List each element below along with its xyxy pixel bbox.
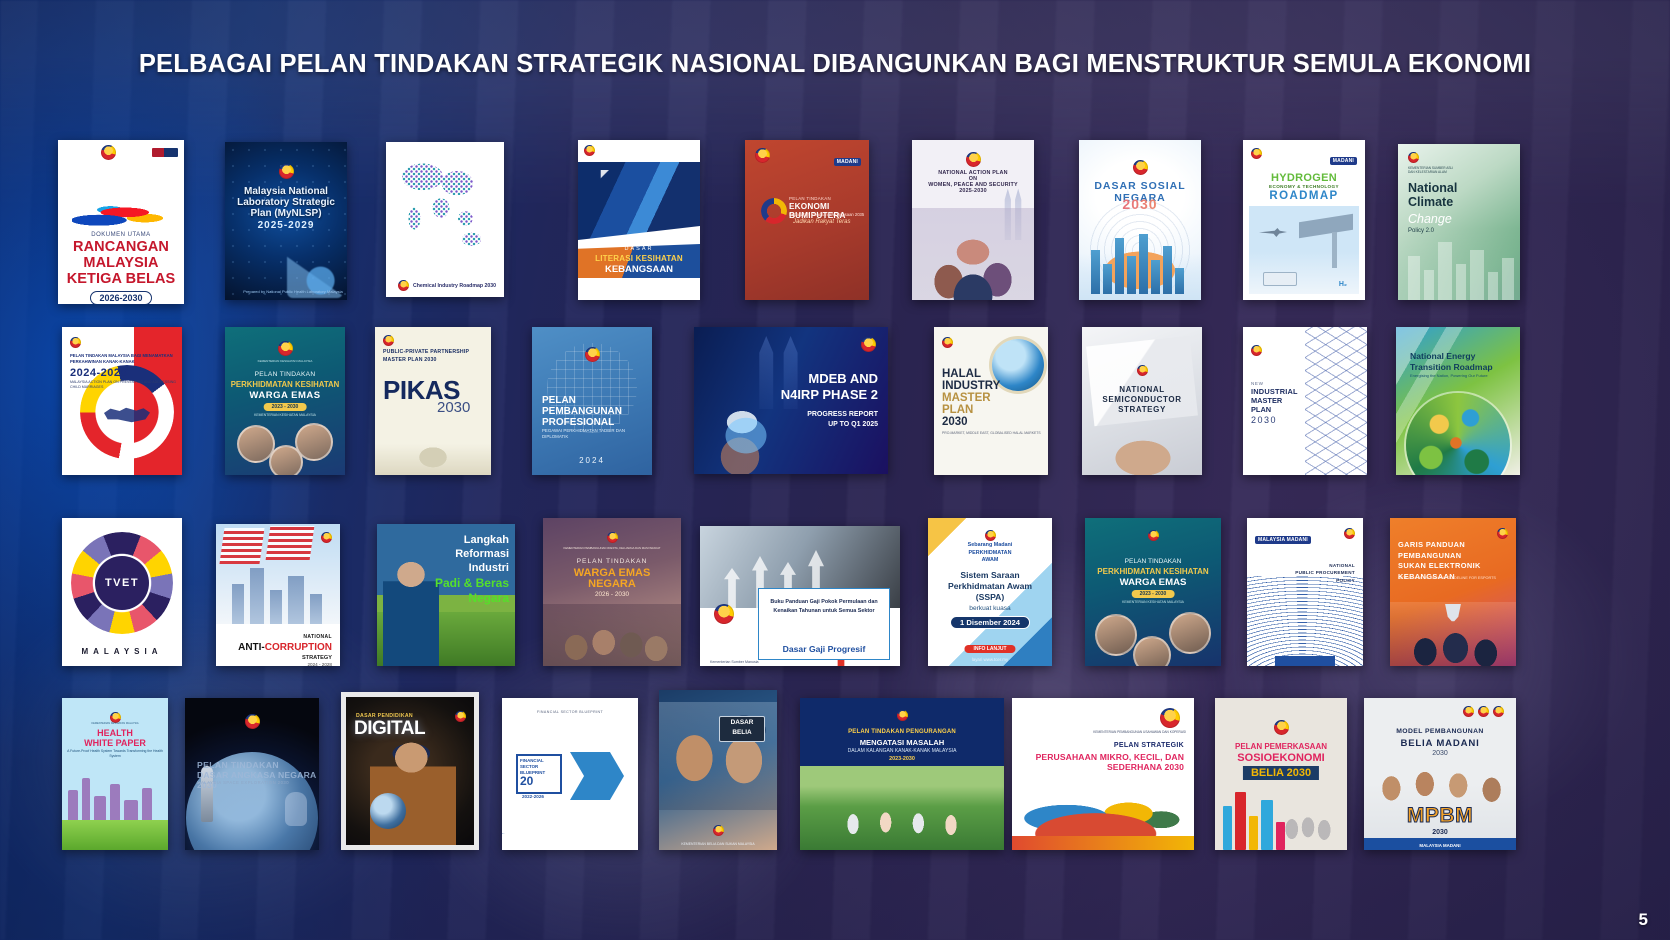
jata-negara-crest-icon [1148,530,1159,541]
ministry-wordmark: KEMENTERIAN SUMBER ASLIDAN KELESTARIAN A… [1408,166,1453,175]
cover-line2: PEMBANGUNAN [1398,551,1462,560]
cover-line3: SUKAN ELEKTRONIK [1398,561,1481,570]
cover-badge: MALAYSIA MADANI [1364,843,1516,848]
rmk-swoosh-graphic [72,202,168,228]
cover-line1: GARIS PANDUAN [1398,540,1465,549]
jata-negara-crest-icon [966,152,981,167]
cover-line2: INDUSTRY [942,381,1000,393]
cover-tvet-malaysia[interactable]: TVET MALAYSIA [62,518,182,666]
city-skyline-illustration [1079,222,1201,300]
cover-footer: KEMENTERIAN BELIA DAN SUKAN MALAYSIA [659,842,777,846]
logo-line3: AWAM [982,557,999,563]
lattice-pattern [1305,327,1367,475]
jata-negara-crest-icon [755,148,770,163]
cover-line1: INDUSTRIAL [1251,387,1298,396]
page-number: 5 [1639,910,1648,930]
cover-line2: Transition Roadmap [1410,362,1493,372]
cover-jawi-text: Jadikan Rakyat Teras [793,219,850,225]
cover-title-line3: Plan (MyNLSP) [229,208,343,219]
cover-box-line2: Kenaikan Tahunan untuk Semua Sektor [773,608,874,614]
park-grass [62,820,168,850]
jata-negara-crest-icon [101,145,116,160]
jata-negara-crest-icon [321,532,332,543]
building-shape [288,576,304,624]
jata-negara-crest-icon [383,335,394,346]
cover-line2: PEMBANGUNAN [542,406,622,417]
cover-line3: ROADMAP [1243,190,1365,202]
cover-beban-berganda-malpemakanan[interactable]: PELAN TINDAKAN PENGURANGAN MENGATASI MAS… [800,698,1004,850]
cover-title: ANTI-CORRUPTION [238,642,332,653]
cover-kicker: NEW [1251,381,1264,386]
cover-line1: DASAR [578,246,700,252]
cover-dasar-angkasa-negara[interactable]: PELAN TINDAKAN DASAR ANGKASA NEGARA 2030… [185,698,319,850]
cover-dasar-gaji-progresif[interactable]: Buku Panduan Gaji Pokok Permulaan dan Ke… [700,526,900,666]
jata-negara-crest-icon [714,604,734,624]
cover-pelan-tindakan-perkahwinan-kanak-kanak[interactable]: PELAN TINDAKAN MALAYSIA BAGI MENAMATKAN … [62,327,182,475]
cover-line1: HALAL [942,369,981,381]
hand-photo [1102,419,1184,475]
document-row-3: TVET MALAYSIA NATIONAL ANTI-CORRUPTION S… [0,508,1670,673]
cover-line4: Policy 2.0 [1408,228,1434,234]
building-shape [310,594,322,624]
cover-inner-art: DASAR PENDIDIKAN DIGITAL [346,697,474,845]
cover-tagline: Energising the Nation, Powering Our Futu… [1410,373,1488,378]
cover-ministry: KEMENTERIAN KESIHATAN MALAYSIA [1085,600,1221,604]
cover-model-pembangunan-belia-madani[interactable]: MODEL PEMBANGUNAN BELIA MADANI 2030 MPBM… [1364,698,1516,850]
cover-line1: National [1408,182,1457,196]
cover-line1: PELAN TINDAKAN [543,558,681,565]
cover-ministry: KEMENTERIAN KESIHATAN MALAYSIA [225,413,345,417]
cover-dasar-belia-malaysia[interactable]: DASAR BELIA KEMENTERIAN BELIA DAN SUKAN … [659,690,777,850]
cover-pelan-strategik-pmks-2030[interactable]: KEMENTERIAN PEMBANGUNAN USAHAWAN DAN KOP… [1012,698,1194,850]
cover-line1: PELAN TINDAKAN [197,760,279,770]
cover-national-energy-transition-roadmap[interactable]: National Energy Transition Roadmap Energ… [1396,327,1520,475]
jata-negara-crest-icon [70,337,81,348]
cover-line3: Industri [469,562,509,574]
sspa-logo: Sebarang Madani PERKHIDMATAN AWAM [968,542,1013,565]
cover-acronym: MPBM [1364,804,1516,828]
madani-badge: MADANI [834,158,861,166]
cover-ekonomi-bumiputera[interactable]: MADANI PELAN TINDAKAN EKONOMI BUMIPUTERA… [745,140,869,300]
cover-line3: KEBANGSAAN [578,264,700,275]
photo-circle [1169,612,1211,654]
family-photo [543,604,681,666]
cover-line2: PERKHIDMATAN KESIHATAN [225,380,345,389]
astronaut-icon [285,792,307,826]
cover-line2: MENGATASI MASALAH [800,738,1004,747]
fuel-canopy-shape [1299,214,1353,239]
cover-ministry: Kementerian Sumber Manusia [710,660,759,664]
jata-negara-crest-icon [1137,365,1148,376]
green-skyline-graphic [1398,228,1520,300]
cover-line1: MODEL PEMBANGUNAN [1364,728,1516,735]
cover-line4: DALAM KALANGAN KANAK-KANAK MALAYSIA [800,748,1004,754]
cover-years: 2024 - 2028 [307,662,332,666]
jata-negara-crest-icon [1497,528,1508,539]
jata-negara-crest-icon [1408,152,1419,163]
cover-line2: LITERASI KESIHATAN [578,254,700,263]
cover-years: 2026-2030 [90,291,151,304]
cover-line4: Padi & Beras [435,576,509,590]
jata-negara-crest-icon [1274,720,1289,735]
jata-negara-crest-icon [1463,706,1474,717]
cover-subtitle: MALAYSIA ACTION PLAN ON PREVENTING AND A… [70,380,182,390]
cover-years: 2023 - 2030 [1132,590,1175,598]
info-lanjut-button[interactable]: INFO LANJUT [964,645,1015,653]
cover-title-part2: CORRUPTION [265,642,332,653]
malaysia-madani-badge: MALAYSIA MADANI [1255,536,1311,544]
cover-line3: WARGA EMAS [1085,577,1221,588]
cover-pemerkasaan-sosioekonomi-belia[interactable]: PELAN PEMERKASAAN SOSIOEKONOMI BELIA 203… [1215,698,1347,850]
cover-footer: Chemical Industry Roadmap 2030 [394,280,496,291]
cover-line1: PELAN TINDAKAN [1085,558,1221,565]
cover-line1: PELAN STRATEGIK [1012,742,1184,749]
cover-line1: PELAN [542,395,576,406]
cover-heading: PUBLIC-PRIVATE PARTNERSHIP MASTER PLAN 2… [383,349,469,364]
person-photo [383,562,439,666]
cover-heading-line1: PUBLIC-PRIVATE PARTNERSHIP [383,349,469,355]
jata-negara-crest-icon [278,341,293,356]
cover-line3: PROGRESS REPORT [807,411,878,418]
cover-title-line1: RANCANGAN [58,239,184,255]
cover-prepared-by: Prepared by National Public Health Labor… [243,289,343,294]
logo-line2: PERKHIDMATAN [969,550,1012,556]
cover-title-line2: Laboratory Strategic [229,197,343,208]
cover-country: MALAYSIA [62,647,182,656]
jata-negara-crest-icon [584,145,595,156]
cover-box-line2: SECTOR [520,764,538,769]
children-photo [800,796,1004,840]
cover-highlight: Dasar Gaji Progresif [762,644,886,654]
cover-line2: Perkhidmatan Awam [928,581,1052,591]
building-shape [232,584,244,624]
cover-heading-line2: MASTER PLAN 2030 [383,357,437,363]
cover-line3: NEGARA [543,578,681,590]
cover-line2: Reformasi [455,548,509,560]
cover-warga-emas-kesihatan-2[interactable]: PELAN TINDAKAN PERKHIDMATAN KESIHATAN WA… [1085,518,1221,666]
cover-line1: DASAR [721,719,763,726]
building-shape [250,568,264,624]
cover-years: 2022-2026 [522,794,544,799]
cover-warga-emas-negara[interactable]: KEMENTERIAN PEMBANGUNAN WANITA, KELUARGA… [543,518,681,666]
cover-subtitle: NATIONAL DEVELOPMENT GUIDELINE FOR ESPOR… [1398,576,1496,582]
cover-title-block: NATIONAL ACTION PLAN ON WOMEN, PEACE AND… [920,170,1026,194]
ministry-wordmark: KEMENTERIAN KESIHATAN MALAYSIA [62,722,168,725]
cover-title-part1: ANTI- [238,642,265,653]
cover-year: 2030 [1251,415,1277,425]
cover-heading: FINANCIAL SECTOR BLUEPRINT [502,710,638,714]
cover-subtitle: Kepakaran, Keadilan, Penguasaan 2035 [789,212,864,217]
cover-date-badge: 1 Disember 2024 [950,616,1030,629]
jata-negara-crest-icon [398,280,409,291]
cover-dasar-pendidikan-digital[interactable]: DASAR PENDIDIKAN DIGITAL [341,692,479,850]
cover-line4: UP TO Q1 2025 [828,421,878,428]
document-row-4: KEMENTERIAN KESIHATAN MALAYSIA HEALTH WH… [0,690,1670,860]
globe-ball-illustration [370,793,406,829]
cover-line3: STRATEGY [1082,405,1202,414]
cover-line2: SEMICONDUCTOR [1082,395,1202,404]
slide-root: PELBAGAI PELAN TINDAKAN STRATEGIK NASION… [0,0,1670,940]
jata-negara-crest-icon [942,337,953,348]
h2-label: H₂ [1339,281,1347,288]
hydrogen-station-illustration: H₂ [1249,206,1359,294]
cover-box-text: Buku Panduan Gaji Pokok Permulaan dan Ke… [762,598,886,615]
cover-dasar-sosial-negara[interactable]: DASAR SOSIAL NEGARA 2030 [1079,140,1201,300]
truck-shape [1263,272,1297,286]
jata-negara-crest-icon [607,532,618,543]
cover-line2: MASTER [1251,396,1282,405]
cover-year: 2030 [1079,196,1201,212]
building-shape [82,778,90,826]
cover-line1: PELAN TINDAKAN [225,371,345,378]
cover-line1: NATIONAL [1082,385,1202,394]
cover-kicker: PELAN TINDAKAN [789,196,831,201]
cover-national-semiconductor-strategy[interactable]: NATIONAL SEMICONDUCTOR STRATEGY [1082,327,1202,475]
agency-crest-icon [1493,706,1504,717]
document-row-1: DOKUMEN UTAMA RANCANGAN MALAYSIA KETIGA … [0,140,1670,305]
cover-line2: N4IRP PHASE 2 [781,387,878,402]
cover-caption: Chemical Industry Roadmap 2030 [413,283,496,289]
cover-line2: Climate [1408,196,1453,210]
cover-years: 2023-2030 [800,756,1004,762]
jata-negara-crest-icon [897,710,908,721]
cover-line1: Langkah [464,534,509,546]
cover-hydrogen-roadmap[interactable]: MADANI HYDROGEN ECONOMY & TECHNOLOGY ROA… [1243,140,1365,300]
cover-line3: BELIA 2030 [1243,766,1319,780]
cover-chemical-industry-roadmap[interactable]: Chemical Industry Roadmap 2030 [386,142,504,297]
cover-line1: MDEB AND [808,371,878,386]
cover-women-peace-security[interactable]: NATIONAL ACTION PLAN ON WOMEN, PEACE AND… [912,140,1034,300]
cover-pelan-pembangunan-profesional[interactable]: PELAN PEMBANGUNAN PROFESIONAL PEGAWAI PE… [532,327,652,475]
building-shape [1235,792,1246,850]
cover-line4: PEGAWAI PERKHIDMATAN TADBIR DAN DIPLOMAT… [542,428,652,440]
cover-reformasi-padi-beras[interactable]: Langkah Reformasi Industri Padi & Beras … [377,524,515,666]
slide-title: PELBAGAI PELAN TINDAKAN STRATEGIK NASION… [0,50,1670,79]
cover-line1: NATIONAL [1329,563,1355,568]
cover-box-line1: Buku Panduan Gaji Pokok Permulaan dan [770,599,877,605]
madani-logo-icon [152,148,178,157]
cover-line5: Negara [468,591,509,605]
kementerian-crest-icon [1478,706,1489,717]
world-map-dotted-graphic [394,154,496,258]
cover-mdeb-n4irp-phase-2[interactable]: MDEB AND N4IRP PHASE 2 PROGRESS REPORT U… [694,327,888,474]
cover-years: 2025-2029 [229,220,343,231]
cover-title-line1: Malaysia National [229,186,343,197]
document-row-2: PELAN TINDAKAN MALAYSIA BAGI MENAMATKAN … [0,327,1670,477]
photo-circle [269,445,303,475]
cover-year: 2024 [532,456,652,465]
cover-subtitle: MALAYSIA SPACE EXPLORATION 2030 [197,780,289,785]
jata-negara-crest-icon [985,530,996,541]
madani-badge: MADANI [1330,157,1357,165]
cover-kicker: NATIONAL [303,634,332,640]
jata-negara-crest-icon [1251,345,1262,356]
cover-line5: 2030 [942,417,968,429]
cover-box-line1: FINANCIAL [520,758,544,763]
jata-negara-crest-icon [279,164,294,179]
people-photo-collage [912,208,1034,300]
cover-subtitle: berkuat kuasa [928,605,1052,612]
jata-negara-crest-icon [1251,148,1262,159]
cover-year: 2030 [437,399,470,416]
cover-years: 2025-2030 [920,188,1026,194]
cover-line1: HYDROGEN [1243,172,1365,184]
cover-dasar-literasi-kesihatan[interactable]: DASAR LITERASI KESIHATAN KEBANGSAAN [578,140,700,300]
cover-title-part3: STRATEGY [302,655,332,661]
cover-rancangan-malaysia-ketiga-belas[interactable]: DOKUMEN UTAMA RANCANGAN MALAYSIA KETIGA … [58,140,184,304]
bottom-color-band [1012,836,1194,850]
cover-footer: PRO-MARKET, MIDDLE EAST, GLOBALISED HALA… [942,431,1041,436]
logo-line1: Sebarang Madani [968,542,1013,548]
jata-negara-crest-icon [861,337,876,352]
cover-big-number: 20 [520,774,533,788]
cover-line4: PLAN [942,405,973,417]
cover-line3: PLAN [1251,405,1271,414]
wave-lines-graphic [1247,576,1363,666]
cover-line2: PERKHIDMATAN KESIHATAN [1085,567,1221,576]
cover-line3: Change [1408,212,1452,226]
arrow-up-icon [724,568,740,608]
cover-national-public-procurement-policy[interactable]: MALAYSIA MADANI NATIONAL PUBLIC PROCUREM… [1247,518,1363,666]
city-park-illustration [62,768,168,826]
cover-health-white-paper[interactable]: KEMENTERIAN KESIHATAN MALAYSIA HEALTH WH… [62,698,168,850]
jata-negara-crest-icon [713,825,724,836]
building-shape [1249,816,1258,850]
mosque-illustration [375,423,491,475]
cover-line1: National Energy [1410,351,1475,361]
cover-title-block: NATIONAL PUBLIC PROCUREMENT POLICY [1295,562,1355,584]
jata-negara-crest-icon [455,711,466,722]
fuel-post-shape [1332,232,1337,268]
cover-url: layari www.tcer.my [928,657,1052,662]
jata-negara-crest-icon [245,714,260,729]
cover-national-climate-change-policy[interactable]: KEMENTERIAN SUMBER ASLIDAN KELESTARIAN A… [1398,144,1520,300]
cover-acronym: TVET [95,556,149,610]
youth-silhouettes [1279,800,1337,844]
network-pattern [934,433,1048,475]
cover-pikas-2030[interactable]: PUBLIC-PRIVATE PARTNERSHIP MASTER PLAN 2… [375,327,491,475]
cover-sspa[interactable]: Sebarang Madani PERKHIDMATAN AWAM Sistem… [928,518,1052,666]
jata-negara-crest-icon [1160,708,1180,728]
cover-line2: SOSIOEKONOMI [1215,752,1347,764]
ministry-wordmark: KEMENTERIAN PEMBANGUNAN WANITA, KELUARGA… [543,546,681,550]
bottom-band [1275,656,1335,666]
cover-title-line2: MALAYSIA [58,255,184,271]
cover-years: 2026 - 2030 [543,591,681,598]
cover-subtitle: A Future-Proof Health System Towards Tra… [62,749,168,759]
cover-line1: PELAN PEMERKASAAN [1215,742,1347,751]
photo-circle [1095,614,1137,656]
jata-negara-crest-icon [1344,528,1355,539]
cover-line2: PUBLIC PROCUREMENT [1295,570,1355,575]
building-shape [270,590,282,624]
cover-new-industrial-master-plan-2030[interactable]: NEW INDUSTRIAL MASTER PLAN 2030 [1243,327,1367,475]
cover-garis-panduan-sukan-elektronik[interactable]: GARIS PANDUAN PEMBANGUNAN SUKAN ELEKTRON… [1390,518,1516,666]
cover-mynlsp[interactable]: Malaysia National Laboratory Strategic P… [225,142,347,300]
msme-illustration [1012,762,1194,840]
cover-warga-emas-kesihatan-1[interactable]: KEMENTERIAN KESIHATAN MALAYSIA PELAN TIN… [225,327,345,475]
cover-line1: PELAN TINDAKAN PENGURANGAN [800,728,1004,737]
cover-line2: WHITE PAPER [62,738,168,748]
cover-line2: ECONOMY & TECHNOLOGY [1243,184,1365,189]
cover-title: DIGITAL [354,718,425,740]
cover-label: DOKUMEN UTAMA [58,232,184,239]
cover-halal-industry-master-plan[interactable]: HALAL INDUSTRY MASTER PLAN 2030 PRO-MARK… [934,327,1048,475]
bumiputera-ring-logo [761,198,787,224]
cover-line2: PERUSAHAAN MIKRO, KECIL, DAN SEDERHANA 2… [1012,752,1184,772]
flag-graphic [266,526,315,560]
cover-line3: MASTER [942,393,991,405]
cover-year-bottom: 2030 [1364,829,1516,836]
cover-line3: (SSPA) [928,592,1052,602]
airplane-icon [1259,228,1287,237]
cover-line3: PROFESIONAL [542,417,614,428]
ministry-wordmark: KEMENTERIAN KESIHATAN MALAYSIA [225,359,345,363]
cover-line1: Sistem Saraan [928,570,1052,580]
cover-years: 2023 - 2030 [264,403,307,411]
cover-title: EKONOMI BUMIPUTERA [789,202,869,220]
cover-line3: WARGA EMAS [225,390,345,401]
crest-row [1463,706,1504,717]
jata-negara-crest-icon [1133,160,1148,175]
photo-circle [1133,636,1171,666]
cover-line1: HEALTH [62,728,168,738]
building-shape [1261,800,1273,850]
cover-line3: POLICY [1336,578,1355,583]
building-shape [1223,806,1232,850]
cover-financial-sector-blueprint[interactable]: FINANCIAL SECTOR BLUEPRINT FINANCIAL SEC… [502,698,638,850]
cover-logos [64,145,178,160]
cover-years: 2024-2028 [70,367,127,379]
ministry-wordmark: KEMENTERIAN PEMBANGUNAN USAHAWAN DAN KOP… [1093,730,1186,734]
cover-line2: BELIA [721,729,763,736]
cover-heading: PELAN TINDAKAN MALAYSIA BAGI MENAMATKAN … [70,353,182,364]
cover-national-anti-corruption-strategy[interactable]: NATIONAL ANTI-CORRUPTION STRATEGY 2024 -… [216,524,340,666]
cover-title-line3: KETIGA BELAS [58,271,184,287]
flag-graphic [219,528,264,564]
jata-negara-crest-icon [585,347,600,362]
